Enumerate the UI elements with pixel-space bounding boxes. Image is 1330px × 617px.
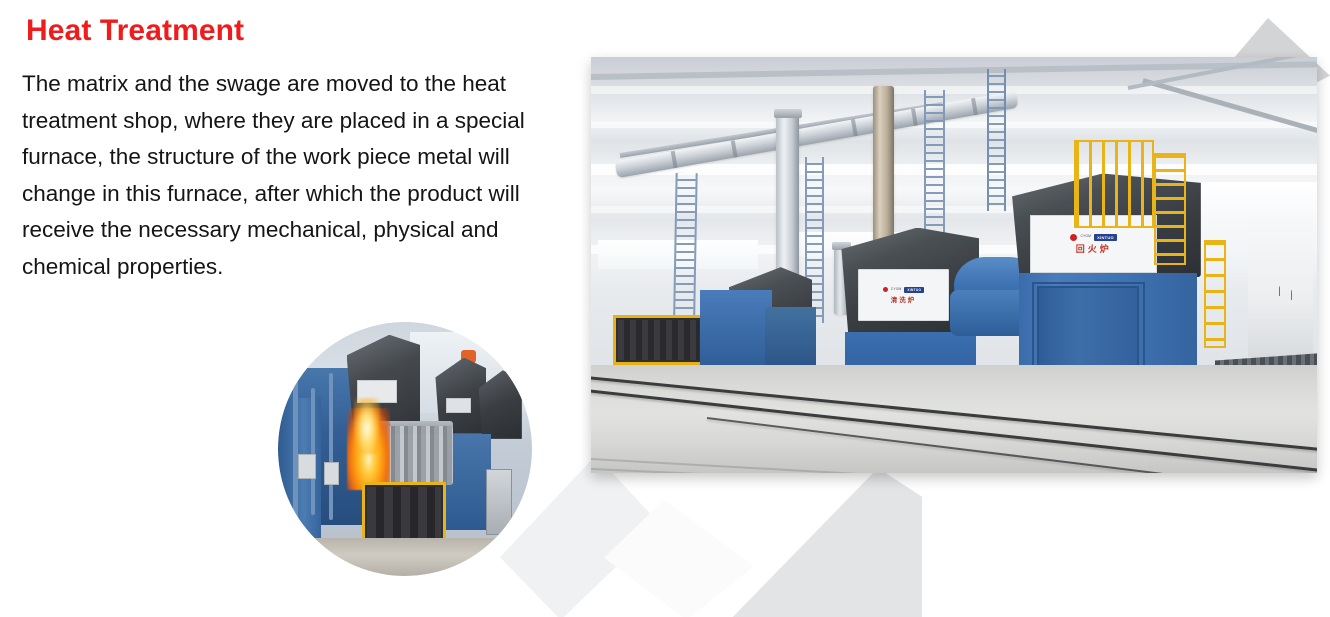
furnace-sign-characters: 回火炉: [1076, 242, 1112, 255]
gas-cylinder: [1291, 290, 1292, 300]
furnace-sign-characters: 清洗炉: [891, 294, 917, 304]
brand-logo-icon: [883, 287, 888, 292]
inset-furnace-sign: [446, 398, 471, 413]
inset-valve-box: [298, 454, 316, 479]
blue-machinery-unit: [765, 307, 816, 369]
wall-band: [591, 164, 1317, 175]
furnace-sign-badge: XINTUO: [904, 287, 924, 293]
heat-treatment-slide: Heat Treatment The matrix and the swage …: [0, 0, 1330, 617]
furnace-sign-brand: CYGM: [1080, 235, 1091, 239]
main-photo: CYGM XINTUO 清洗炉 CYGM XINTUO 回火炉: [591, 57, 1317, 473]
gas-cylinder: [1279, 286, 1280, 296]
text-column: Heat Treatment The matrix and the swage …: [22, 12, 570, 285]
cage-grill: [618, 320, 699, 360]
guard-rail: [1204, 240, 1226, 348]
yellow-guard-cage: [613, 315, 704, 365]
inset-pipe: [293, 378, 298, 520]
guard-rail: [1154, 153, 1187, 265]
decor-shape-middle-right: [722, 468, 922, 617]
section-body-text: The matrix and the swage are moved to th…: [22, 66, 570, 285]
inset-control-panel: [486, 469, 511, 535]
inset-circular-photo: [278, 322, 532, 576]
floor-seam: [591, 458, 1316, 473]
inset-workpiece-charge: [382, 426, 453, 484]
inset-yellow-guard-cage: [362, 482, 446, 546]
blue-machinery-unit: [700, 290, 773, 369]
furnace-sign: CYGM XINTUO 清洗炉: [858, 269, 949, 321]
access-ladder: [987, 69, 1006, 210]
furnace-sign-brand: CYGM: [891, 288, 902, 292]
wall-band: [591, 86, 1317, 94]
wall-band: [591, 122, 1317, 128]
guard-rail: [1074, 140, 1154, 227]
main-photo-scene: CYGM XINTUO 清洗炉 CYGM XINTUO 回火炉: [591, 57, 1317, 473]
floor-seam: [591, 468, 1316, 473]
stack-cap: [774, 109, 802, 117]
inset-shop-floor: [278, 538, 532, 576]
inset-pipe: [329, 373, 333, 520]
hall-doorway: [1248, 215, 1313, 356]
inset-cage-grill: [367, 487, 441, 541]
inset-pipe: [311, 388, 315, 515]
furnace-sign-badge: XINTUO: [1094, 234, 1117, 241]
inset-valve-box: [324, 462, 339, 485]
inset-furnace-flame: [354, 398, 379, 454]
inset-photo-scene: [278, 322, 532, 576]
page-title: Heat Treatment: [26, 12, 570, 50]
gas-cylinder: [1268, 289, 1269, 299]
brand-logo-icon: [1070, 234, 1077, 241]
decor-shape-lower: [604, 500, 754, 617]
